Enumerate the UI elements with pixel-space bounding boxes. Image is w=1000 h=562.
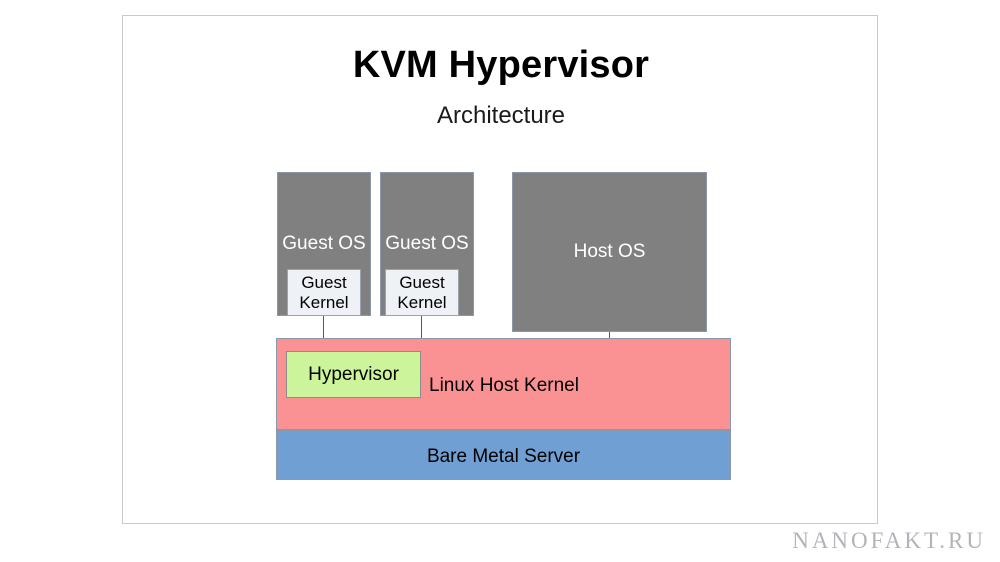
bare-metal-server-band[interactable]: Bare Metal Server bbox=[276, 430, 731, 480]
host-os-box[interactable]: Host OS bbox=[512, 172, 707, 332]
hypervisor-label: Hypervisor bbox=[308, 364, 399, 386]
diagram-frame: KVM Hypervisor Architecture Guest OS Gue… bbox=[122, 15, 878, 524]
guest-kernel-box-2[interactable]: Guest Kernel bbox=[385, 269, 459, 316]
watermark: NANOFAKT.RU bbox=[792, 528, 986, 554]
guest-kernel-box-1[interactable]: Guest Kernel bbox=[287, 269, 361, 316]
guest-kernel-label-2-line1: Guest bbox=[399, 273, 444, 293]
page-title: KVM Hypervisor bbox=[123, 44, 879, 87]
guest-kernel-label-2-line2: Kernel bbox=[397, 293, 446, 313]
guest-kernel-label-1-line1: Guest bbox=[301, 273, 346, 293]
page-subtitle: Architecture bbox=[123, 102, 879, 130]
linux-host-kernel-label: Linux Host Kernel bbox=[429, 375, 579, 397]
guest-os-label-1: Guest OS bbox=[278, 233, 370, 255]
host-os-label: Host OS bbox=[513, 241, 706, 263]
bare-metal-server-label: Bare Metal Server bbox=[277, 446, 730, 468]
guest-os-label-2: Guest OS bbox=[381, 233, 473, 255]
guest-kernel-label-1-line2: Kernel bbox=[299, 293, 348, 313]
hypervisor-box[interactable]: Hypervisor bbox=[286, 351, 421, 398]
